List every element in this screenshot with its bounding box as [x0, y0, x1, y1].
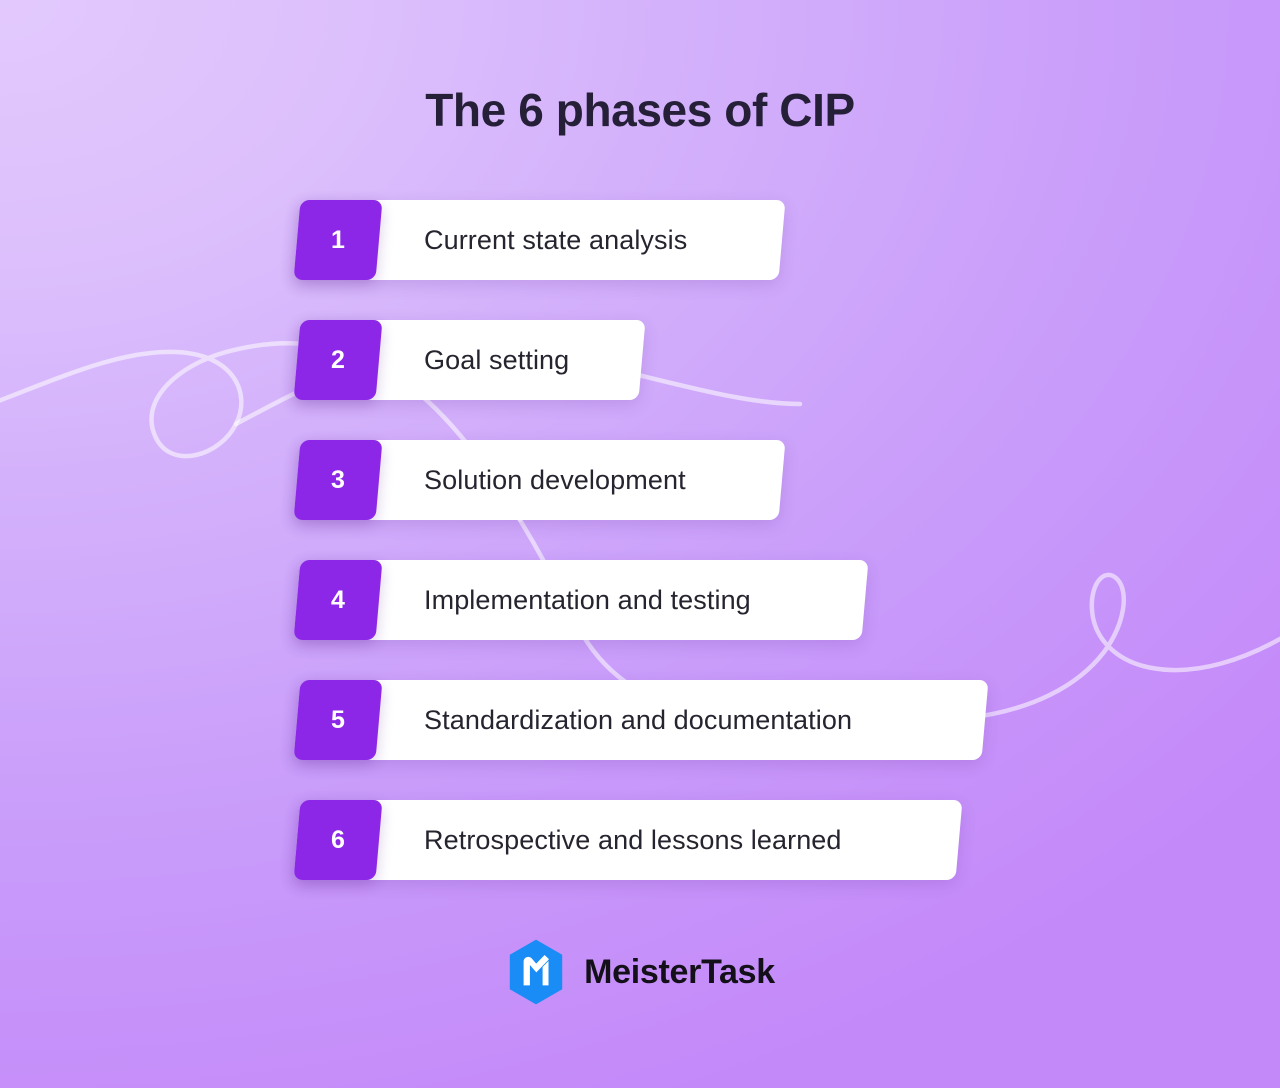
phase-number-badge: 2 — [294, 320, 383, 400]
brand-logo: MeisterTask — [0, 938, 1280, 1006]
phase-label: Goal setting — [424, 320, 569, 400]
phase-number-badge: 6 — [294, 800, 383, 880]
phase-number: 3 — [297, 440, 379, 520]
phase-number-badge: 4 — [294, 560, 383, 640]
list-item[interactable]: 6 Retrospective and lessons learned — [294, 800, 1201, 880]
list-item[interactable]: 3 Solution development — [294, 440, 1201, 520]
phase-label: Standardization and documentation — [424, 680, 852, 760]
list-item[interactable]: 1 Current state analysis — [294, 200, 1201, 280]
phase-label: Current state analysis — [424, 200, 687, 280]
list-item[interactable]: 5 Standardization and documentation — [294, 680, 1201, 760]
infographic-canvas: The 6 phases of CIP 1 Current state anal… — [0, 0, 1280, 1088]
brand-name: MeisterTask — [584, 955, 775, 989]
list-item[interactable]: 2 Goal setting — [294, 320, 1201, 400]
list-item[interactable]: 4 Implementation and testing — [294, 560, 1201, 640]
phase-list: 1 Current state analysis 2 Goal setting … — [297, 200, 1197, 920]
phase-label: Solution development — [424, 440, 686, 520]
phase-number-badge: 5 — [294, 680, 383, 760]
phase-number-badge: 1 — [294, 200, 383, 280]
phase-label: Implementation and testing — [424, 560, 751, 640]
phase-number-badge: 3 — [294, 440, 383, 520]
phase-number: 5 — [297, 680, 379, 760]
meistertask-hexagon-m-icon — [505, 938, 567, 1006]
phase-number: 4 — [297, 560, 379, 640]
phase-number: 1 — [297, 200, 379, 280]
phase-number: 2 — [297, 320, 379, 400]
phase-label: Retrospective and lessons learned — [424, 800, 842, 880]
page-title: The 6 phases of CIP — [0, 79, 1280, 141]
phase-number: 6 — [297, 800, 379, 880]
